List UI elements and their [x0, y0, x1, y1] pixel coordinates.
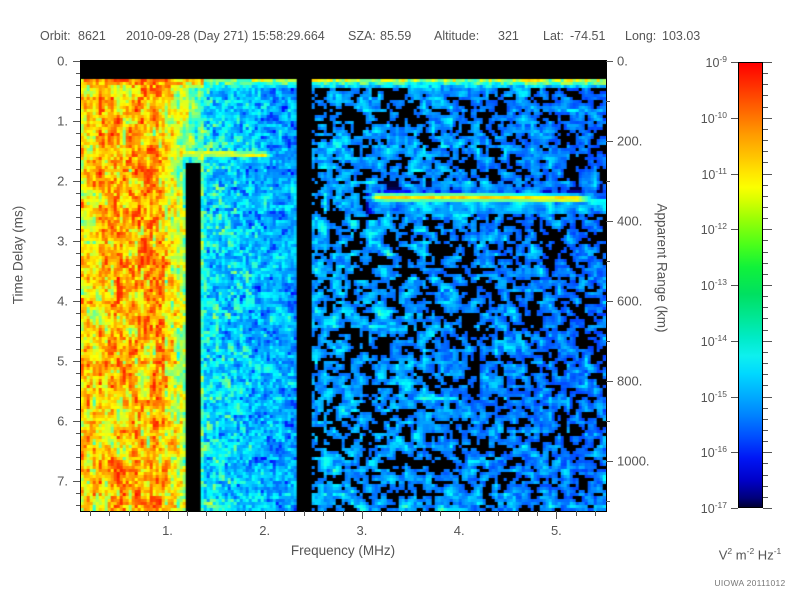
x-tick-major — [168, 511, 169, 519]
colorbar-tick-minor — [763, 240, 768, 241]
x-tick-major — [362, 511, 363, 519]
colorbar-tick-exponent: -14 — [715, 333, 727, 343]
x-tick-minor — [323, 511, 324, 516]
unit-base-2: m — [736, 547, 747, 562]
x-tick-major — [459, 511, 460, 519]
colorbar-tick-base: 10 — [701, 168, 715, 182]
sza-label: SZA: — [348, 29, 376, 43]
y-tick-minor — [76, 73, 80, 74]
x-axis-title: Frequency (MHz) — [291, 543, 395, 558]
x-tick-minor — [576, 511, 577, 516]
colorbar-tick-minor — [763, 475, 768, 476]
y-tick-major — [73, 181, 80, 182]
y2-tick-label: 0. — [617, 54, 628, 69]
colorbar-tick-left — [731, 285, 738, 286]
colorbar-tick-minor — [763, 196, 768, 197]
colorbar-tick-base: 10 — [701, 502, 715, 516]
y-tick-minor — [76, 97, 80, 98]
datetime-value: 2010-09-28 (Day 271) 15:58:29.664 — [126, 29, 325, 43]
colorbar-tick-minor — [763, 151, 768, 152]
colorbar-tick-minor — [763, 374, 768, 375]
colorbar-tick-exponent: -13 — [715, 277, 727, 287]
colorbar-tick-minor — [763, 185, 768, 186]
altitude-value: 321 — [498, 29, 519, 43]
colorbar-tick-minor — [763, 296, 768, 297]
colorbar-tick-minor — [763, 252, 768, 253]
x-tick-minor — [381, 511, 382, 516]
colorbar-tick-exponent: -12 — [715, 221, 727, 231]
y-tick-minor — [76, 289, 80, 290]
colorbar-tick-left — [731, 118, 738, 119]
y2-tick-major — [606, 221, 613, 222]
colorbar-tick-label: 10-10 — [701, 110, 727, 126]
y-tick-label: 1. — [57, 114, 68, 129]
x-tick-major — [556, 511, 557, 519]
y-tick-label: 4. — [57, 294, 68, 309]
y-tick-minor — [76, 313, 80, 314]
y-tick-major — [73, 121, 80, 122]
colorbar-tick-minor — [763, 363, 768, 364]
x-tick-minor — [401, 511, 402, 516]
colorbar-tick-major — [763, 508, 772, 509]
x-tick-minor — [343, 511, 344, 516]
y2-tick-label: 400. — [617, 214, 642, 229]
colorbar-tick-left — [731, 508, 738, 509]
colorbar-tick-label: 10-16 — [701, 444, 727, 460]
y2-tick-major — [606, 141, 613, 142]
y2-tick-minor — [606, 341, 610, 342]
y-tick-minor — [76, 193, 80, 194]
colorbar-tick-left — [731, 397, 738, 398]
colorbar-tick-label: 10-11 — [701, 165, 727, 181]
colorbar-tick-label: 10-15 — [701, 388, 727, 404]
credit-footer: UIOWA 20111012 — [714, 578, 785, 588]
ionogram-plot-area — [80, 60, 607, 512]
y-tick-minor — [76, 409, 80, 410]
y-tick-major — [73, 241, 80, 242]
unit-exp-1: 2 — [727, 546, 732, 556]
y-tick-minor — [76, 469, 80, 470]
y2-tick-label: 600. — [617, 294, 642, 309]
colorbar-tick-major — [763, 397, 772, 398]
x-tick-label: 4. — [454, 523, 465, 538]
colorbar-tick-minor — [763, 274, 768, 275]
lat-label: Lat: — [543, 29, 564, 43]
y2-tick-minor — [606, 261, 610, 262]
y2-tick-label: 200. — [617, 134, 642, 149]
x-tick-minor — [595, 511, 596, 516]
colorbar-tick-minor — [763, 218, 768, 219]
colorbar-tick-base: 10 — [701, 391, 715, 405]
lat-value: -74.51 — [570, 29, 605, 43]
y-tick-minor — [76, 145, 80, 146]
x-tick-label: 5. — [551, 523, 562, 538]
x-tick-minor — [90, 511, 91, 516]
x-tick-minor — [284, 511, 285, 516]
y2-tick-major — [606, 461, 613, 462]
y-tick-label: 6. — [57, 414, 68, 429]
y-tick-label: 0. — [57, 54, 68, 69]
y2-tick-minor — [606, 181, 610, 182]
y-tick-major — [73, 481, 80, 482]
y-tick-label: 2. — [57, 174, 68, 189]
y-tick-minor — [76, 385, 80, 386]
y-tick-label: 5. — [57, 354, 68, 369]
ionogram-page: Orbit: 8621 2010-09-28 (Day 271) 15:58:2… — [0, 0, 800, 600]
colorbar-unit-label: V2 m-2 Hz-1 — [719, 546, 782, 562]
x-tick-minor — [245, 511, 246, 516]
colorbar-tick-minor — [763, 352, 768, 353]
x-tick-minor — [420, 511, 421, 516]
colorbar-tick-minor — [763, 129, 768, 130]
colorbar-tick-exponent: -10 — [715, 110, 727, 120]
y-tick-major — [73, 61, 80, 62]
y-tick-minor — [76, 337, 80, 338]
colorbar-tick-minor — [763, 207, 768, 208]
colorbar-tick-base: 10 — [706, 56, 720, 70]
x-tick-minor — [226, 511, 227, 516]
y-tick-major — [73, 421, 80, 422]
y-tick-minor — [76, 493, 80, 494]
y2-tick-label: 800. — [617, 374, 642, 389]
colorbar-tick-minor — [763, 430, 768, 431]
y-tick-minor — [76, 277, 80, 278]
colorbar-tick-minor — [763, 140, 768, 141]
y-tick-minor — [76, 265, 80, 266]
y-axis-right-title: Apparent Range (km) — [655, 203, 670, 332]
colorbar-tick-base: 10 — [701, 112, 715, 126]
colorbar-tick-minor — [763, 162, 768, 163]
y2-tick-minor — [606, 421, 610, 422]
spectrogram-canvas — [81, 61, 606, 511]
colorbar-tick-left — [731, 62, 738, 63]
colorbar-tick-major — [763, 62, 772, 63]
colorbar-tick-left — [731, 452, 738, 453]
colorbar-tick-minor — [763, 263, 768, 264]
y-tick-minor — [76, 217, 80, 218]
y-axis-left-title: Time Delay (ms) — [11, 206, 26, 305]
orbit-value: 8621 — [78, 29, 106, 43]
colorbar-tick-major — [763, 452, 772, 453]
colorbar-tick-minor — [763, 441, 768, 442]
y-tick-minor — [76, 133, 80, 134]
colorbar-tick-minor — [763, 107, 768, 108]
colorbar-tick-minor — [763, 463, 768, 464]
y2-tick-minor — [606, 501, 610, 502]
unit-exp-3: -1 — [774, 546, 782, 556]
colorbar-tick-minor — [763, 419, 768, 420]
colorbar-tick-left — [731, 174, 738, 175]
metadata-header: Orbit: 8621 2010-09-28 (Day 271) 15:58:2… — [0, 29, 680, 45]
y-tick-minor — [76, 157, 80, 158]
x-tick-minor — [109, 511, 110, 516]
colorbar-tick-major — [763, 285, 772, 286]
y-tick-minor — [76, 349, 80, 350]
colorbar-tick-label: 10-13 — [701, 277, 727, 293]
colorbar-tick-minor — [763, 330, 768, 331]
y-tick-major — [73, 301, 80, 302]
y-tick-minor — [76, 505, 80, 506]
x-tick-label: 1. — [162, 523, 173, 538]
x-tick-minor — [129, 511, 130, 516]
x-tick-minor — [537, 511, 538, 516]
unit-base-1: V — [719, 547, 728, 562]
colorbar-tick-label: 10-12 — [701, 221, 727, 237]
colorbar-tick-minor — [763, 486, 768, 487]
y-tick-minor — [76, 85, 80, 86]
x-tick-minor — [148, 511, 149, 516]
sza-value: 85.59 — [380, 29, 411, 43]
colorbar-tick-exponent: -16 — [715, 444, 727, 454]
y-tick-minor — [76, 373, 80, 374]
x-tick-minor — [518, 511, 519, 516]
y-tick-minor — [76, 109, 80, 110]
x-tick-minor — [304, 511, 305, 516]
orbit-label: Orbit: — [40, 29, 71, 43]
colorbar-tick-major — [763, 229, 772, 230]
colorbar-tick-left — [731, 229, 738, 230]
x-tick-minor — [187, 511, 188, 516]
colorbar-tick-base: 10 — [701, 335, 715, 349]
colorbar-tick-major — [763, 341, 772, 342]
colorbar-tick-minor — [763, 95, 768, 96]
y-tick-minor — [76, 205, 80, 206]
y2-tick-major — [606, 301, 613, 302]
x-tick-label: 3. — [357, 523, 368, 538]
y-tick-minor — [76, 457, 80, 458]
unit-exp-2: -2 — [747, 546, 755, 556]
colorbar-tick-major — [763, 118, 772, 119]
colorbar-tick-exponent: -9 — [719, 54, 727, 64]
colorbar-tick-label: 10-17 — [701, 500, 727, 516]
colorbar-tick-base: 10 — [701, 279, 715, 293]
colorbar-tick-minor — [763, 318, 768, 319]
y2-tick-label: 1000. — [617, 454, 650, 469]
colorbar-tick-major — [763, 174, 772, 175]
y-tick-minor — [76, 169, 80, 170]
long-label: Long: — [625, 29, 656, 43]
altitude-label: Altitude: — [434, 29, 479, 43]
y-tick-major — [73, 361, 80, 362]
y-tick-minor — [76, 253, 80, 254]
long-value: 103.03 — [662, 29, 700, 43]
y-tick-minor — [76, 397, 80, 398]
x-tick-minor — [206, 511, 207, 516]
colorbar-tick-label: 10-14 — [701, 333, 727, 349]
colorbar-gradient — [738, 62, 763, 508]
colorbar-tick-minor — [763, 84, 768, 85]
x-tick-label: 2. — [259, 523, 270, 538]
unit-base-3: Hz — [758, 547, 774, 562]
x-tick-minor — [440, 511, 441, 516]
y-tick-label: 3. — [57, 234, 68, 249]
x-tick-minor — [498, 511, 499, 516]
y2-tick-major — [606, 61, 613, 62]
colorbar-tick-base: 10 — [701, 446, 715, 460]
y-tick-minor — [76, 433, 80, 434]
colorbar-tick-minor — [763, 408, 768, 409]
y-tick-minor — [76, 445, 80, 446]
colorbar-tick-exponent: -11 — [715, 165, 727, 175]
colorbar-tick-exponent: -15 — [715, 388, 727, 398]
y-tick-minor — [76, 229, 80, 230]
colorbar-tick-minor — [763, 497, 768, 498]
colorbar-tick-exponent: -17 — [715, 500, 727, 510]
colorbar-tick-minor — [763, 385, 768, 386]
y2-tick-major — [606, 381, 613, 382]
colorbar-tick-minor — [763, 73, 768, 74]
x-tick-minor — [479, 511, 480, 516]
y-tick-minor — [76, 325, 80, 326]
y2-tick-minor — [606, 101, 610, 102]
colorbar-tick-minor — [763, 307, 768, 308]
colorbar-tick-label: 10-9 — [706, 54, 727, 70]
colorbar-tick-left — [731, 341, 738, 342]
x-tick-major — [265, 511, 266, 519]
colorbar-tick-base: 10 — [701, 223, 715, 237]
y-tick-label: 7. — [57, 474, 68, 489]
